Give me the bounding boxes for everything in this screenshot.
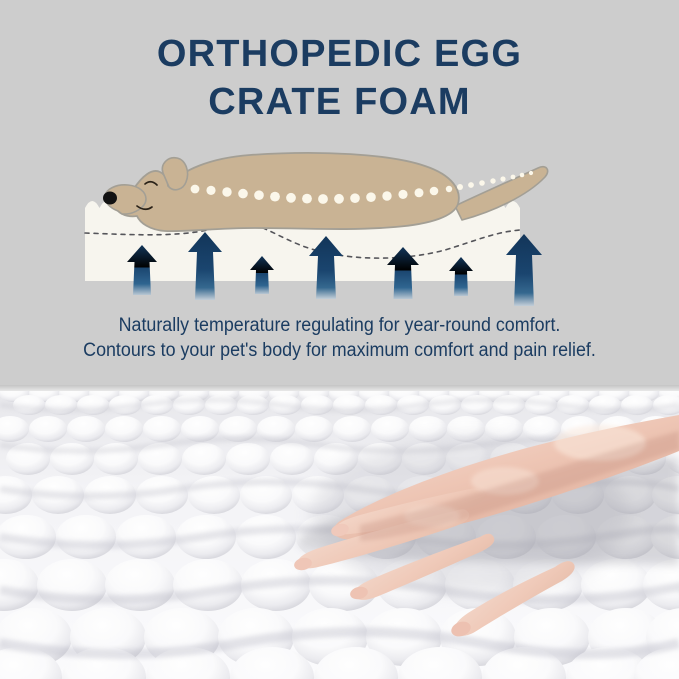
top-info-panel: ORTHOPEDIC EGG CRATE FOAM [0,0,679,385]
egg-crate-texture [0,385,679,679]
feature-description: Naturally temperature regulating for yea… [20,313,658,363]
dog-nose [103,192,117,205]
title-line-1: ORTHOPEDIC EGG [0,30,679,78]
product-infographic: ORTHOPEDIC EGG CRATE FOAM [0,0,679,679]
feature-line-2: Contours to your pet's body for maximum … [20,338,658,363]
foam-closeup-photo [0,385,679,679]
dog-on-foam-illustration [0,128,679,318]
title-line-2: CRATE FOAM [0,78,679,126]
feature-line-1: Naturally temperature regulating for yea… [20,313,658,338]
page-title: ORTHOPEDIC EGG CRATE FOAM [0,30,679,126]
